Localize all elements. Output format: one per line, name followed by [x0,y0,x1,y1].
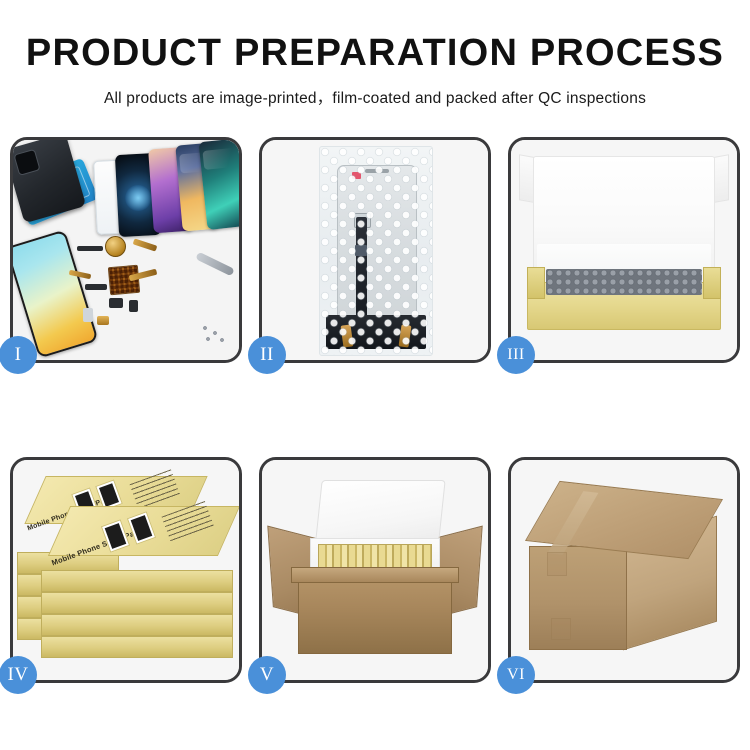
step-badge-6: VI [497,656,535,694]
tweezers-icon [195,252,234,277]
carton-front-face [529,546,627,650]
flex-cable-a [133,238,158,251]
part-sim-tray [83,308,93,322]
carton-label-tab-bottom [551,618,571,640]
page-subtitle: All products are image-printed，film-coat… [0,86,750,108]
step-badge-4: IV [0,656,37,694]
step-5-image [262,460,488,680]
step-panel-2: II [259,137,491,363]
step-panel-5: V [259,457,491,683]
part-gold-clip [97,316,109,325]
part-bracket [85,284,107,290]
step-badge-5: V [248,656,286,694]
step-3-image [511,140,737,360]
tray-lip-left [527,267,545,299]
components-scene [13,140,239,360]
part-button [129,300,138,312]
step-panel-1: I [10,137,242,363]
step-6-image [511,460,737,680]
box-slab-f3 [41,614,233,636]
header: PRODUCT PREPARATION PROCESS All products… [0,0,750,108]
back-housing [13,140,86,223]
step-badge-3: III [497,336,535,374]
part-camera [109,298,123,308]
box-slab-f4 [41,636,233,658]
step-panel-6: VI [508,457,740,683]
screws-group [201,324,227,344]
bubble-wrap-bag [319,146,433,356]
speaker-module [105,236,126,257]
step-panel-3: III [508,137,740,363]
step-badge-1: I [0,336,37,374]
step-2-image [262,140,488,360]
step-1-image [13,140,239,360]
tray-lip-right [703,267,721,299]
page-title: PRODUCT PREPARATION PROCESS [0,34,750,74]
step-4-image: Mobile Phone Spare Parts Mobile Phone Sp… [13,460,239,680]
step-badge-2: II [248,336,286,374]
carton-label-tab-top [547,552,567,576]
box-slab-f1 [41,570,233,592]
wrapped-contents [546,269,702,295]
part-strip [77,246,103,251]
cardboard-carton-open [298,576,452,654]
box-slab-f2 [41,592,233,614]
product-preparation-infographic: PRODUCT PREPARATION PROCESS All products… [0,0,750,750]
step-panel-4: Mobile Phone Spare Parts Mobile Phone Sp… [10,457,242,683]
bubble-texture [320,147,432,355]
steps-grid: I II [10,137,740,683]
box-stack: Mobile Phone Spare Parts Mobile Phone Sp… [13,460,239,680]
gold-tray-box [527,282,721,330]
